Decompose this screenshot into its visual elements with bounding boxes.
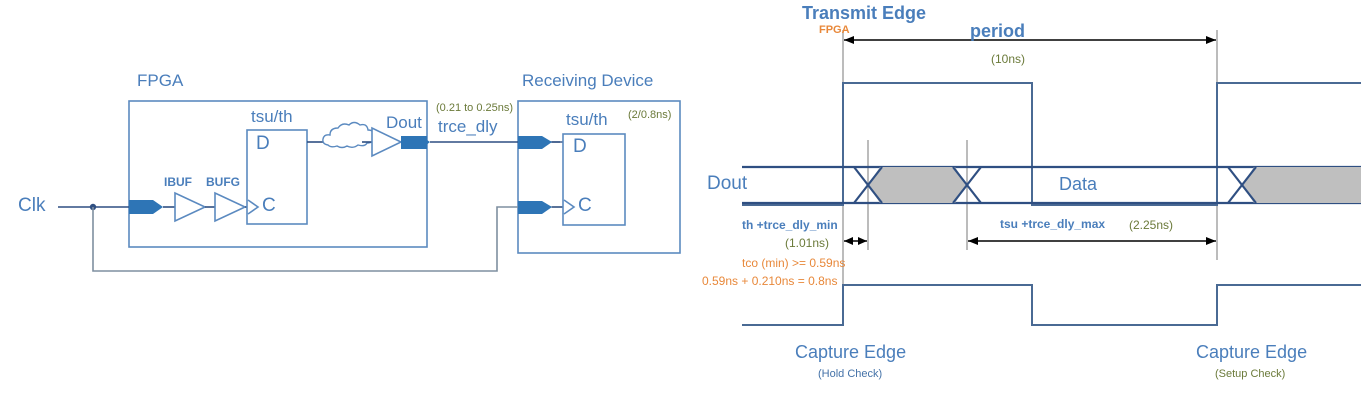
receiver-c-port-arrow-icon <box>518 201 552 214</box>
dout-waveform-label: Dout <box>707 174 747 193</box>
dout-data-valid-label: Data <box>1059 175 1097 193</box>
transmit-edge-title: Transmit Edge <box>802 4 926 22</box>
bufg-label: BUFG <box>206 176 240 188</box>
transmit-edge-sub: FPGA <box>819 25 850 36</box>
obuf-buffer-icon <box>372 128 401 156</box>
logic-cloud-icon <box>323 123 374 148</box>
period-arrow-head-left-icon <box>844 36 854 44</box>
receiver-ff-title: tsu/th <box>566 111 608 128</box>
hold-label: th +trce_dly_min <box>742 219 838 231</box>
setup-value: (2.25ns) <box>1129 219 1173 231</box>
dout-label: Dout <box>386 114 422 131</box>
setup-arrow-head-right-icon <box>1206 237 1216 245</box>
receiver-ff-d-pin: D <box>573 137 587 156</box>
hold-arrow-head-left-icon <box>844 237 853 245</box>
fpga-clk-port-arrow-icon <box>129 200 163 214</box>
screenshot-root: Clk FPGA Receiving Device tsu/th D C IBU… <box>0 0 1361 413</box>
period-label: period <box>970 22 1025 40</box>
fpga-label: FPGA <box>137 72 183 89</box>
circuit-schematic <box>0 0 720 413</box>
dout-invalid-region-right <box>1242 167 1361 203</box>
period-value: (10ns) <box>991 53 1025 65</box>
setup-arrow-head-left-icon <box>968 237 978 245</box>
hold-arrow-head-right-icon <box>858 237 867 245</box>
hold-value: (1.01ns) <box>785 237 829 249</box>
capture-edge-right-title: Capture Edge <box>1196 343 1307 361</box>
capture-edge-left-sub: (Hold Check) <box>818 369 882 380</box>
capture-edge-right-sub: (Setup Check) <box>1215 369 1285 380</box>
fpga-ff-c-pin: C <box>262 196 276 215</box>
clk-feedback-net <box>93 207 565 271</box>
ibuf-buffer-icon <box>175 193 205 221</box>
fpga-ff-d-pin: D <box>256 134 270 153</box>
receiver-d-port-arrow-icon <box>518 136 552 149</box>
receiver-ff-c-pin: C <box>578 196 592 215</box>
trce-dly-value: (0.21 to 0.25ns) <box>436 103 513 114</box>
fpga-ff-title: tsu/th <box>251 108 293 125</box>
trce-dly-label: trce_dly <box>438 118 498 135</box>
dout-invalid-region-left <box>868 167 967 203</box>
ibuf-label: IBUF <box>164 176 192 188</box>
receiver-ff-spec: (2/0.8ns) <box>628 110 671 121</box>
capture-clock-waveform <box>742 285 1361 325</box>
setup-label: tsu +trce_dly_max <box>1000 218 1105 230</box>
bufg-buffer-icon <box>215 193 245 221</box>
dout-port-arrow-icon <box>401 136 430 149</box>
capture-edge-left-title: Capture Edge <box>795 343 906 361</box>
clk-label: Clk <box>18 196 45 215</box>
tco-min-note: tco (min) >= 0.59ns <box>742 257 845 269</box>
receiving-device-label: Receiving Device <box>522 72 653 89</box>
tco-sum-note: 0.59ns + 0.210ns = 0.8ns <box>702 275 837 287</box>
period-arrow-head-right-icon <box>1206 36 1216 44</box>
